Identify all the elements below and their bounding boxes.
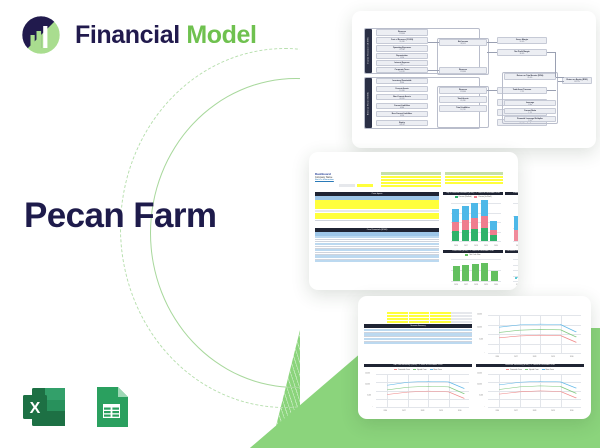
roa-group [502,72,558,124]
file-format-icons: X [21,384,134,430]
node-interest-expense: Interest Expense617 [376,60,428,66]
svg-text:X: X [30,400,41,417]
assets-group [437,86,489,128]
profitability-chart: Profitability ($'000) - 5 Years to Decem… [505,192,518,247]
revenue-sensitivity-chart: 15,000 10,000 5,000 - 2026 2027 2028 202… [364,372,472,414]
bar-2030 [491,271,498,281]
plot-area: 15,000 10,000 5,000 - [488,315,581,353]
chart-title-bottom-left: EBITDA Sensitivity ($'000) - 5 Years to … [364,364,472,367]
net-income-group [437,38,489,75]
band-income-statement: Income Statement ($ 000) [365,29,372,73]
summary-table-1 [381,172,441,187]
plot-area [513,259,518,281]
brand-name: Financial Model [75,21,257,50]
line-series-group [488,315,581,353]
financial-model-circle-logo-icon [19,13,63,57]
node-equity: Equity33,070 [376,120,428,126]
x-axis-labels: 2026 2027 2028 2029 2030 [488,357,581,358]
dashboard-canvas: Dashboard Company Name Back to Informati… [309,152,518,290]
charts-canvas: Scenario Summary [358,296,591,419]
dupont-analysis-flowchart-preview[interactable]: Income Statement ($ 000) Balance Sheet (… [352,11,596,148]
node-return-on-equity: Return on Equity (ROE)132.5% [562,77,592,84]
node-corporate-taxes: Corporate Taxes10,570 [376,67,428,73]
chart-legend-bottom-right: Downside Case Upside Case Base Case [476,368,584,371]
input-cell-highlight[interactable] [357,184,373,187]
input-cell[interactable] [339,184,355,187]
node-net-profit-margin: Net Profit Margin30.6% [497,49,547,56]
bar-2028 [472,264,479,281]
bar-2028 [471,203,478,241]
brand-name-part1: Financial [75,21,180,49]
plot-area: 15,000 10,000 5,000 - [376,374,469,407]
core-financials-table: Core Financials ($'000) [315,228,439,262]
node-current-assets: Current Assets12,410 [376,86,428,92]
bar-2026 [453,266,460,281]
plot-area [513,203,518,241]
page-title: Pecan Farm [24,196,216,236]
x-axis-labels: 2026 2027 2028 2029 2030 [451,285,501,286]
line-series-group [488,374,581,407]
net-profit-sensitivity-chart: 15,000 10,000 5,000 - 2026 2027 2028 202… [476,372,584,414]
brand-logo[interactable]: Financial Model [19,13,257,57]
bar-2029 [481,263,488,281]
node-gross-margin: Gross Margin59.4% [497,37,547,44]
node-cost-of-revenue: Cost of Revenue (COGS)51,080 [376,37,428,44]
plot-area: 15,000 10,000 5,000 - [488,374,581,407]
x-axis-labels: 2026 2027 2028 2029 2030 [376,411,469,412]
node-operating-expenses: Operating Expenses23,740 [376,45,428,52]
cumulative-cash-chart: Cumulative Payback / Cash ($'000) - 5 Ye… [505,250,518,286]
dashboard-header: Dashboard Company Name Back to Informati… [315,172,377,181]
financial-dashboard-preview[interactable]: Dashboard Company Name Back to Informati… [309,152,518,290]
x-axis-labels: 2026 2027 2028 2029 2030 [451,246,501,247]
x-axis-labels: 2026 2027 2028 2029 2030 [513,246,518,247]
chart-legend: Gross Profit EBITDA [505,195,518,198]
bar-2030 [490,221,497,241]
node-revenue: Revenue125,800 [376,29,428,36]
cash-flow-chart: Cash Flow ($'000) - 5 Years to December … [443,250,503,286]
node-inventory-receivable: Inventory Receivable4,960 [376,78,428,84]
scenario-charts-preview[interactable]: Scenario Summary [358,296,591,419]
microsoft-excel-icon[interactable]: X [21,384,67,430]
bar-2027 [462,206,469,241]
chart-legend: Net Cash Flow [443,253,503,256]
bar-2026 [514,216,518,241]
bar-2029 [481,200,488,241]
plot-area [451,259,501,281]
chart-legend: Cumulative Cash [505,253,518,256]
revenue-streams-chart: Top 5 Revenue Streams ($'000) - 5 Years … [443,192,503,247]
bar-2027 [462,265,469,281]
line-series-group [376,374,469,407]
plot-area [451,203,501,241]
revenue-ebitda-sensitivity-chart: 15,000 10,000 5,000 - 2026 2027 2028 202… [476,312,584,360]
scenario-summary-table: Scenario Summary [364,312,472,344]
x-axis-labels: 2026 2027 2028 2029 2030 [488,411,581,412]
slide-canvas: Financial Model Pecan Farm X [0,0,600,448]
node-non-current-liabilities: Non-Current Liabilities9,230 [376,111,428,117]
chart-legend-bottom-left: Downside Case Upside Case Base Case [364,368,472,371]
chart-legend: Pecans (Shelled) Pecans (In-Shell) [443,195,503,198]
node-depreciation: Depreciation1,290 [376,53,428,59]
google-sheets-icon[interactable] [88,384,134,430]
node-non-current-assets: Non-Current Assets32,870 [376,94,428,100]
band-balance-sheet: Balance Sheet ($ 000) [365,78,372,128]
node-current-liabilities: Current Liabilities6,980 [376,103,428,109]
brand-name-part2: Model [186,21,256,49]
bar-2026 [452,209,459,241]
x-axis-labels: 2026 2027 2028 2029 2030 [513,285,518,286]
case-inputs-table: Case Inputs [315,192,439,220]
summary-table-2 [445,172,503,184]
chart-title-bottom-right: Revenue Sensitivity ($'000) - 5 Years to… [476,364,584,367]
flowchart-canvas: Income Statement ($ 000) Balance Sheet (… [352,11,596,148]
